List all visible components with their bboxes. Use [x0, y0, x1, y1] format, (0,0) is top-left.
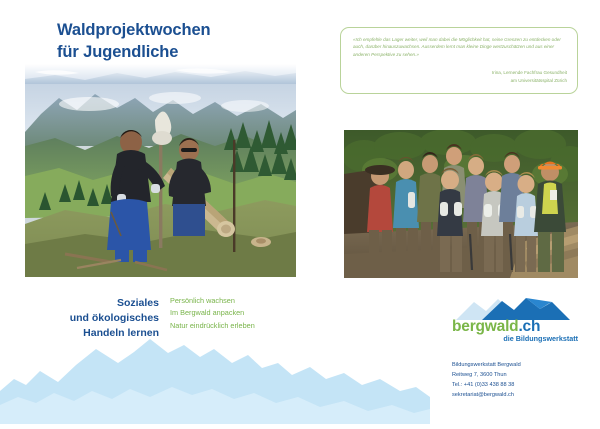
quote-attribution-line-2: am Universitätsspital Zürich	[492, 77, 567, 84]
address-street-city: Reitweg 7, 3600 Thun	[452, 371, 521, 381]
quote-text: «Ich empfehle das Lager weiter, weil man…	[353, 36, 568, 58]
benefit-item-2: Im Bergwald anpacken	[170, 307, 255, 319]
sky-fade-decoration	[25, 64, 296, 86]
logo-subtitle: die Bildungswerkstatt	[452, 334, 578, 343]
quote-attribution: Irina, Lernende Fachfrau Gesundheit am U…	[492, 69, 567, 84]
photo-group-in-mud	[344, 130, 578, 278]
address-organisation: Bildungswerkstatt Bergwald	[452, 361, 521, 371]
benefit-item-1: Persönlich wachsen	[170, 295, 255, 307]
photo-youths-with-log-image	[25, 84, 296, 277]
claim-line-3: Handeln lernen	[34, 326, 159, 341]
quote-attribution-line-1: Irina, Lernende Fachfrau Gesundheit	[492, 69, 567, 76]
contact-address: Bildungswerkstatt Bergwald Reitweg 7, 36…	[452, 361, 521, 401]
benefit-list: Persönlich wachsen Im Bergwald anpacken …	[170, 295, 255, 332]
photo-youths-with-log	[25, 84, 296, 277]
logo-word-main: bergwald	[452, 318, 518, 335]
claim-line-2: und ökologisches	[34, 311, 159, 326]
page-title: Waldprojektwochen für Jugendliche	[57, 20, 211, 64]
page-title-line-2: für Jugendliche	[57, 42, 211, 64]
claim-line-1: Soziales	[34, 296, 159, 311]
benefit-item-3: Natur eindrücklich erleben	[170, 320, 255, 332]
page-title-line-1: Waldprojektwochen	[57, 20, 211, 42]
address-email[interactable]: sekretariat@bergwald.ch	[452, 391, 521, 401]
photo-group-in-mud-image	[344, 130, 578, 278]
bergwald-logo[interactable]: bergwald.ch die Bildungswerkstatt	[452, 296, 578, 346]
testimonial-quote-box: «Ich empfehle das Lager weiter, weil man…	[340, 27, 578, 94]
sky-fade-icon	[25, 64, 296, 86]
address-phone[interactable]: Tel.: +41 (0)33 438 88 38	[452, 381, 521, 391]
logo-word-tld: .ch	[518, 318, 540, 335]
claim-heading: Soziales und ökologisches Handeln lernen	[34, 296, 159, 341]
